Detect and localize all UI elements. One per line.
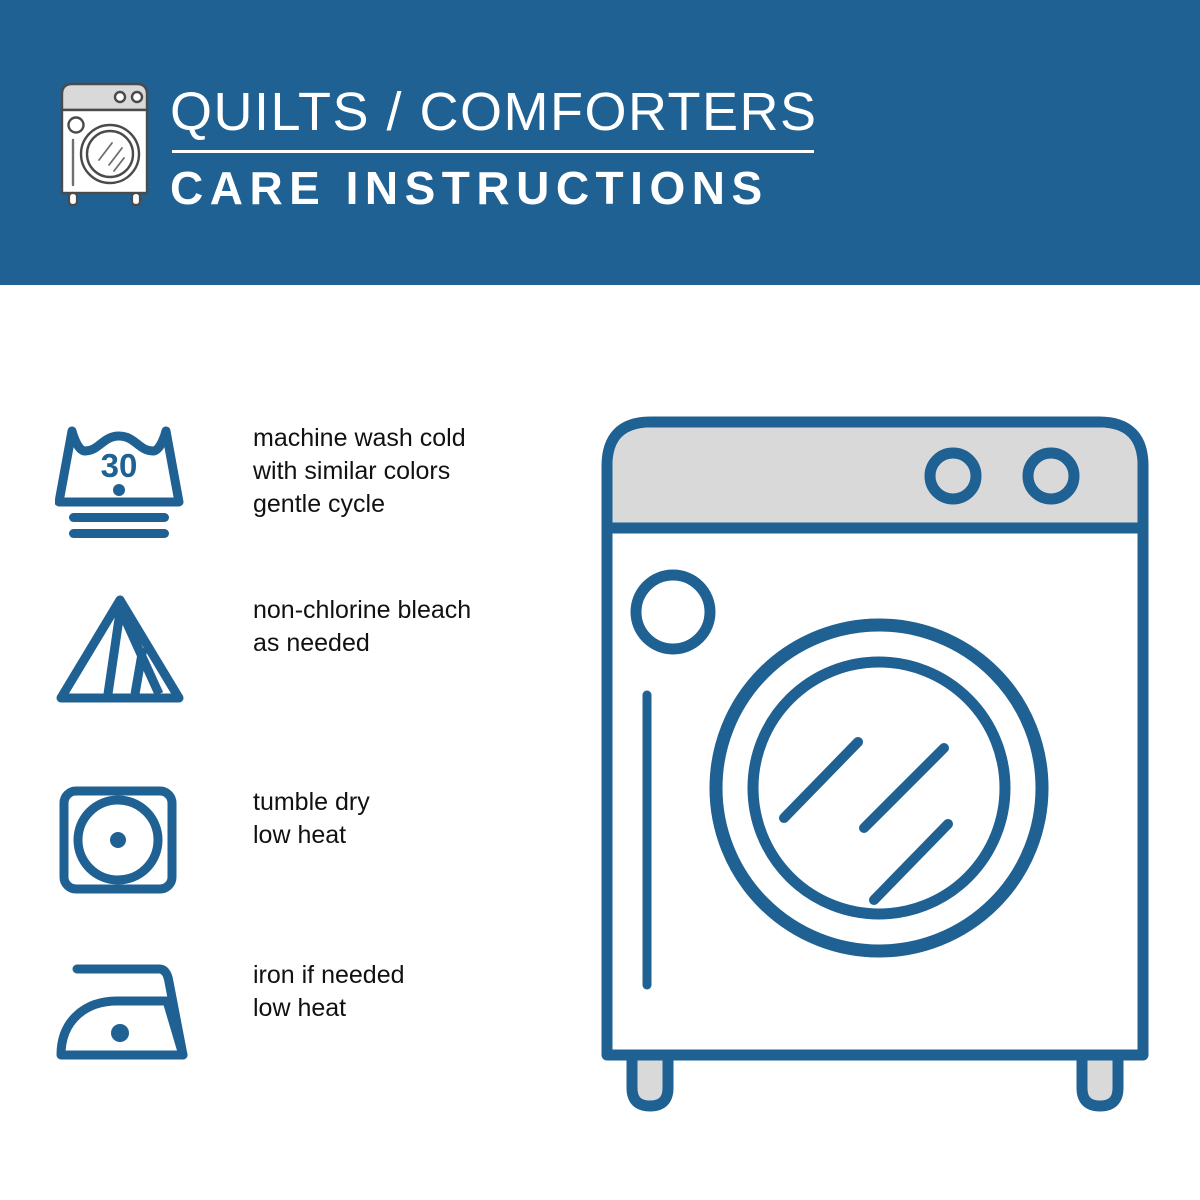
wash-temperature-value: 30: [101, 447, 138, 484]
machine-door: [716, 625, 1042, 951]
wash-heat-dot: [113, 484, 125, 496]
wash-tub-icon: 30: [55, 418, 205, 548]
detergent-dial: [636, 575, 710, 649]
tumble-dry-heat-dot: [110, 832, 126, 848]
care-row-wash: 30 machine wash cold with similar colors…: [55, 418, 466, 548]
triangle-bleach-icon: [55, 590, 205, 710]
iron-heat-dot: [111, 1024, 129, 1042]
care-row-bleach: non-chlorine bleach as needed: [55, 590, 471, 710]
page-subtitle: CARE INSTRUCTIONS: [170, 162, 830, 214]
iron-icon: [55, 955, 205, 1075]
care-label-wash: machine wash cold with similar colors ge…: [253, 418, 466, 521]
header-band: QUILTS / COMFORTERS CARE INSTRUCTIONS: [0, 0, 1200, 285]
care-label-bleach: non-chlorine bleach as needed: [253, 590, 471, 660]
care-row-iron: iron if needed low heat: [55, 955, 405, 1075]
page-title: QUILTS / COMFORTERS: [170, 82, 830, 142]
washing-machine-icon: [52, 80, 157, 210]
title-divider: [172, 150, 814, 153]
washing-machine-illustration: [596, 400, 1166, 1120]
care-label-tumble-dry: tumble dry low heat: [253, 782, 370, 852]
tumble-dry-icon: [55, 782, 205, 902]
care-instructions-page: QUILTS / COMFORTERS CARE INSTRUCTIONS 30…: [0, 0, 1200, 1200]
header-title-block: QUILTS / COMFORTERS CARE INSTRUCTIONS: [170, 82, 830, 214]
care-label-iron: iron if needed low heat: [253, 955, 405, 1025]
care-row-tumble-dry: tumble dry low heat: [55, 782, 370, 902]
